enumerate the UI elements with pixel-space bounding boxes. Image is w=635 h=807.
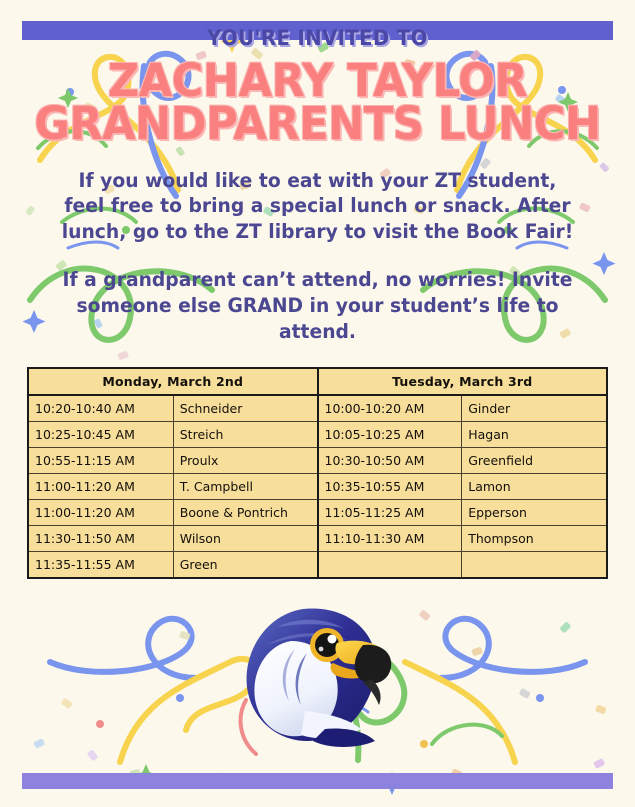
cell-time-slot: 10:25-10:45 AM <box>29 422 173 448</box>
cell-teacher-name: Wilson <box>173 526 317 552</box>
table-row: 10:55-11:15 AMProulx10:30-10:50 AMGreenf… <box>29 448 606 474</box>
cell-teacher-name: Streich <box>173 422 317 448</box>
table-row: 11:30-11:50 AMWilson11:10-11:30 AMThomps… <box>29 526 606 552</box>
cell-teacher-name: Ginder <box>462 395 606 422</box>
table-row: 10:20-10:40 AMSchneider10:00-10:20 AMGin… <box>29 395 606 422</box>
cell-teacher-name: T. Campbell <box>173 474 317 500</box>
invitation-poster: YOU'RE INVITED TO ZACHARY TAYLOR GRANDPA… <box>0 0 635 807</box>
bottom-accent-bar <box>22 773 613 789</box>
schedule-table: Monday, March 2nd Tuesday, March 3rd 10:… <box>29 369 606 577</box>
cell-time-slot: 10:30-10:50 AM <box>318 448 462 474</box>
cell-teacher-name: Thompson <box>462 526 606 552</box>
cell-time-slot: 10:05-10:25 AM <box>318 422 462 448</box>
cell-time-slot <box>318 552 462 578</box>
cell-time-slot: 10:55-11:15 AM <box>29 448 173 474</box>
headline-line-2: GRANDPARENTS LUNCH <box>30 103 605 146</box>
cell-time-slot: 11:10-11:30 AM <box>318 526 462 552</box>
cell-teacher-name: Lamon <box>462 474 606 500</box>
cell-teacher-name: Hagan <box>462 422 606 448</box>
kicker-text: YOU'RE INVITED TO <box>39 0 596 50</box>
cell-time-slot: 10:20-10:40 AM <box>29 395 173 422</box>
cell-time-slot: 10:00-10:20 AM <box>318 395 462 422</box>
cell-teacher-name: Epperson <box>462 500 606 526</box>
cell-time-slot: 11:00-11:20 AM <box>29 474 173 500</box>
cell-teacher-name: Greenfield <box>462 448 606 474</box>
cell-teacher-name <box>462 552 606 578</box>
paragraph-invite-details: If you would like to eat with your ZT st… <box>30 146 605 246</box>
cell-teacher-name: Proulx <box>173 448 317 474</box>
cell-time-slot: 11:05-11:25 AM <box>318 500 462 526</box>
cell-time-slot: 11:35-11:55 AM <box>29 552 173 578</box>
schedule-table-head: Monday, March 2nd Tuesday, March 3rd <box>29 369 606 395</box>
table-row: 11:35-11:55 AMGreen <box>29 552 606 578</box>
falcon-mascot-icon <box>233 601 403 751</box>
cell-teacher-name: Green <box>173 552 317 578</box>
schedule-table-body: 10:20-10:40 AMSchneider10:00-10:20 AMGin… <box>29 395 606 577</box>
schedule-table-container: Monday, March 2nd Tuesday, March 3rd 10:… <box>27 367 608 579</box>
cell-time-slot: 11:00-11:20 AM <box>29 500 173 526</box>
table-row: 10:25-10:45 AMStreich10:05-10:25 AMHagan <box>29 422 606 448</box>
poster-content: YOU'RE INVITED TO ZACHARY TAYLOR GRANDPA… <box>0 0 635 579</box>
paragraph-alternate-guest: If a grandparent can’t attend, no worrie… <box>30 245 605 345</box>
cell-teacher-name: Boone & Pontrich <box>173 500 317 526</box>
schedule-header-row: Monday, March 2nd Tuesday, March 3rd <box>29 369 606 395</box>
table-row: 11:00-11:20 AMBoone & Pontrich11:05-11:2… <box>29 500 606 526</box>
page-title: ZACHARY TAYLOR GRANDPARENTS LUNCH <box>30 60 605 146</box>
cell-time-slot: 11:30-11:50 AM <box>29 526 173 552</box>
cell-teacher-name: Schneider <box>173 395 317 422</box>
cell-time-slot: 10:35-10:55 AM <box>318 474 462 500</box>
column-header-tuesday: Tuesday, March 3rd <box>318 369 607 395</box>
column-header-monday: Monday, March 2nd <box>29 369 318 395</box>
table-row: 11:00-11:20 AMT. Campbell10:35-10:55 AML… <box>29 474 606 500</box>
